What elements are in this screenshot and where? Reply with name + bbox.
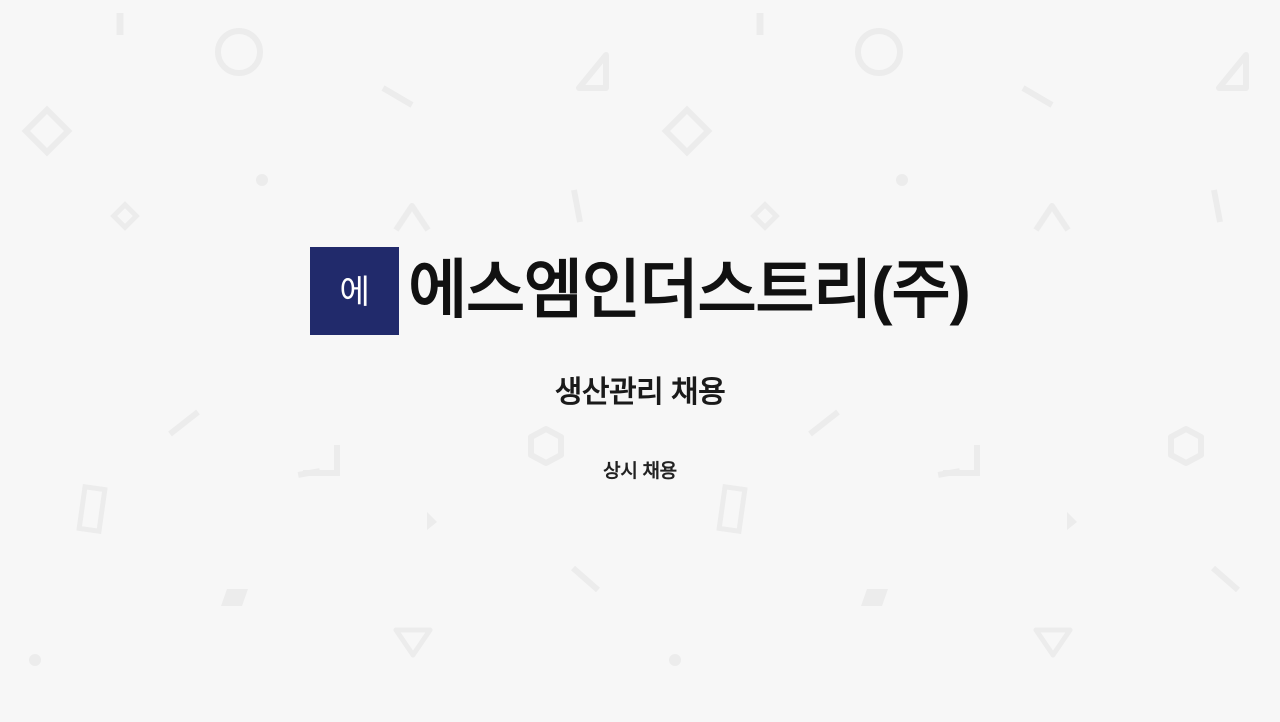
recruitment-period: 상시 채용 [603, 461, 677, 484]
company-header: 에 에스엠인더스트리(주) [310, 246, 970, 336]
company-logo-badge: 에 [310, 247, 399, 335]
job-title: 생산관리 채용 [555, 375, 725, 411]
poster-content: 에 에스엠인더스트리(주) 생산관리 채용 상시 채용 [0, 0, 1280, 722]
company-name: 에스엠인더스트리(주) [408, 256, 970, 325]
job-posting-poster: 에 에스엠인더스트리(주) 생산관리 채용 상시 채용 [0, 0, 1280, 722]
